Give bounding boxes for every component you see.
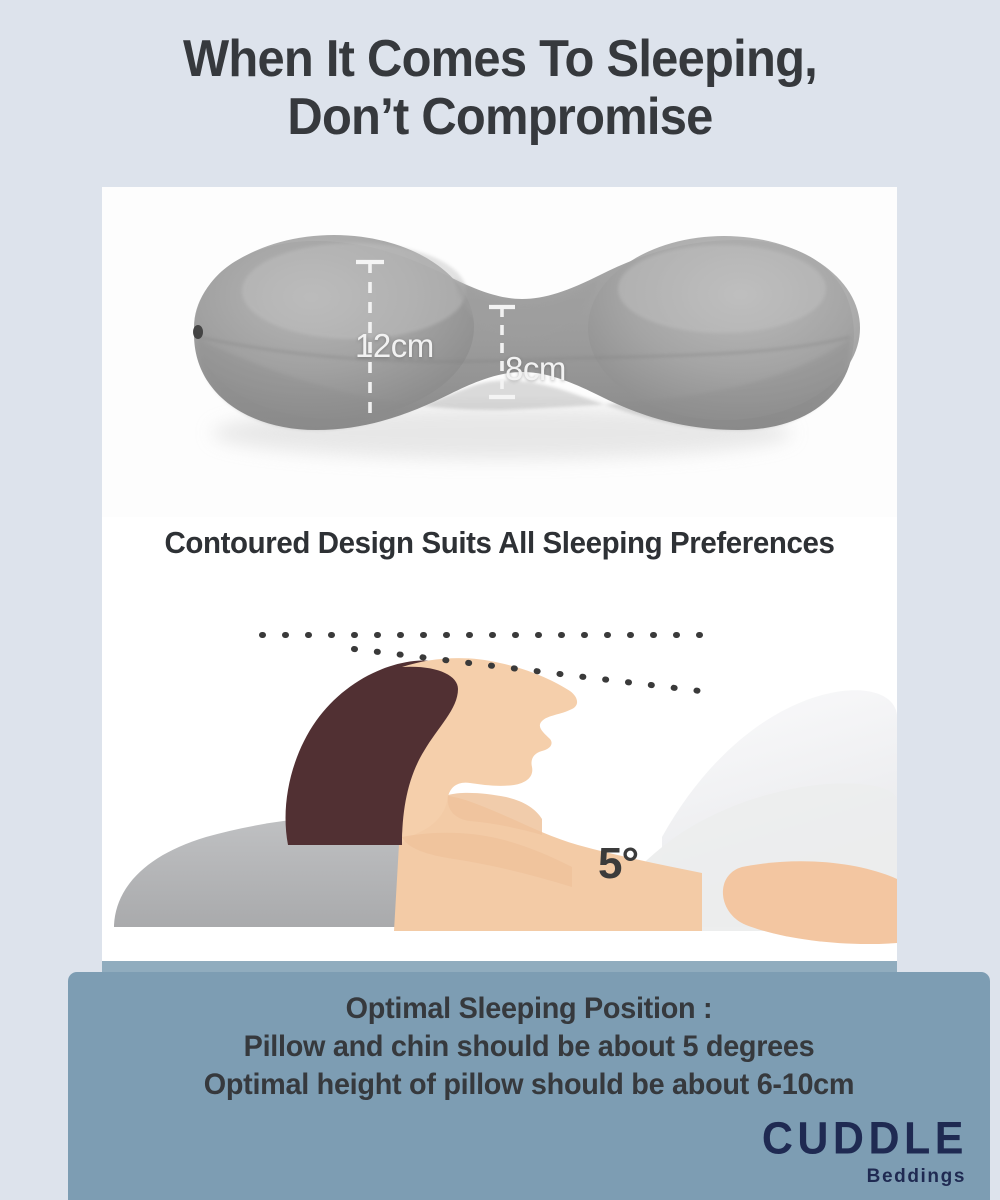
content-card: 12cm 8cm Contoured Design Suits All Slee…: [102, 187, 897, 973]
banner-line-2: Pillow and chin should be about 5 degree…: [86, 1028, 971, 1066]
brand-logo-name: CUDDLE: [762, 1117, 968, 1162]
pillow-tag: [193, 325, 203, 339]
product-photo: 12cm 8cm: [102, 187, 897, 517]
page-title-line-2: Don’t Compromise: [30, 88, 970, 146]
angle-label-5-degrees: 5°: [598, 839, 638, 889]
page-title: When It Comes To Sleeping, Don’t Comprom…: [30, 30, 970, 146]
banner-text-block: Optimal Sleeping Position : Pillow and c…: [86, 990, 971, 1104]
pillow-height-12cm-label: 12cm: [355, 327, 434, 365]
person-sleeping-graphic: [102, 587, 897, 973]
forearm: [723, 861, 897, 944]
brand-logo-tagline: Beddings: [762, 1167, 966, 1186]
banner-line-3: Optimal height of pillow should be about…: [86, 1066, 971, 1104]
sleeping-position-illustration: 5°: [102, 587, 897, 973]
pillow-height-8cm-label: 8cm: [505, 350, 566, 388]
page-title-line-1: When It Comes To Sleeping,: [183, 30, 817, 88]
brand-logo: CUDDLE Beddings: [762, 1119, 968, 1186]
info-banner: Optimal Sleeping Position : Pillow and c…: [68, 972, 990, 1200]
contoured-pillow-illustration: [102, 187, 897, 517]
section-caption: Contoured Design Suits All Sleeping Pref…: [122, 525, 877, 561]
banner-line-1: Optimal Sleeping Position :: [86, 990, 971, 1028]
